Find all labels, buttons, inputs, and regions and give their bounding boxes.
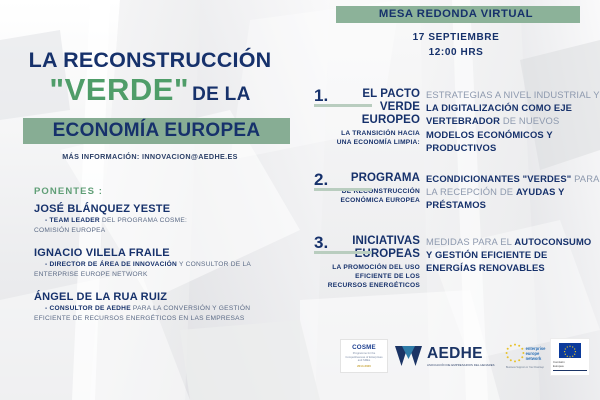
logo-strip: COSME Programme for the Competitiveness … [330, 336, 590, 382]
agenda-body-strong-1: ECONDICIONANTES "VERDES" [426, 173, 571, 184]
aedhe-logo-text: AEDHE ASOCIACIÓN DE EMPRESARIOS DEL HENA… [427, 346, 495, 367]
enterprise-europe-network-logo: enterprise europe network Business Suppo… [502, 338, 548, 374]
agenda-heading: INICIATIVAS EUROPEAS [326, 235, 420, 261]
title-line-2: "VERDE"DE LA [0, 74, 300, 112]
event-banner-text: MESA REDONDA VIRTUAL [312, 6, 600, 23]
speaker-role-rest: Y CONSULTOR DE LA [177, 261, 251, 268]
agenda-heading-block: EL PACTO VERDE EUROPEO LA TRANSICIÓN HAC… [326, 88, 426, 154]
aedhe-logo: AEDHE ASOCIACIÓN DE EMPRESARIOS DEL HENA… [395, 340, 500, 372]
poster-canvas: LA RECONSTRUCCIÓN "VERDE"DE LA ECONOMÍA … [0, 0, 600, 400]
agenda-rule-3 [314, 251, 372, 254]
agenda-rule-2 [314, 188, 372, 191]
agenda-item-1: 1. EL PACTO VERDE EUROPEO LA TRANSICIÓN … [300, 88, 600, 154]
poster-title: LA RECONSTRUCCIÓN "VERDE"DE LA [0, 48, 300, 112]
speaker-item: ÁNGEL DE LA RUA RUIZ - CONSULTOR DE AEDH… [34, 290, 289, 323]
agenda-body: ESTRATEGIAS A NIVEL INDUSTRIAL Y LA DIGI… [426, 88, 600, 154]
speaker-item: IGNACIO VILELA FRAILE - DIRECTOR DE ÁREA… [34, 246, 289, 279]
agenda-number: 1. [300, 88, 326, 154]
een-logo-line-1: enterprise [526, 346, 546, 351]
agenda-number: 2. [300, 172, 326, 212]
agenda-item-2: 2. PROGRAMA DE RECONSTRUCCIÓN ECONÓMICA … [300, 172, 600, 212]
european-commission-logo: Comisión Europea [550, 338, 590, 376]
speaker-role-rest: PARA LA CONVERSIÓN Y GESTIÓN [131, 305, 250, 312]
speaker-role: - DIRECTOR DE ÁREA DE INNOVACIÓN Y CONSU… [34, 260, 289, 279]
een-logo-caption: Business Support on Your Doorstep [503, 366, 547, 369]
speaker-role: - TEAM LEADER DEL PROGRAMA COSME: COMISI… [34, 216, 289, 235]
cosme-logo: COSME Programme for the Competitiveness … [340, 339, 388, 373]
speakers-label: PONENTES : [34, 186, 103, 197]
eu-flag-icon [559, 343, 581, 358]
speaker-role-rest: DEL PROGRAMA COSME: [100, 217, 187, 224]
event-time: 12:00 HRS [312, 45, 600, 60]
eu-logo-caption-line-2: Europea [553, 365, 587, 369]
aedhe-logo-name: AEDHE [427, 346, 495, 362]
agenda-subheading: LA TRANSICIÓN HACIA UNA ECONOMÍA LIMPIA: [326, 129, 420, 147]
agenda-body-plain-2: DE NUEVOS [500, 115, 559, 126]
agenda-heading: EL PACTO VERDE EUROPEO [326, 88, 420, 127]
more-info-text: MÁS INFORMACIÓN: INNOVACION@AEDHE.ES [0, 152, 300, 161]
agenda-body-plain-1: ESTRATEGIAS A NIVEL INDUSTRIAL Y [426, 89, 599, 100]
cosme-logo-tagline: Programme for the Competitiveness of Ent… [343, 352, 385, 362]
eu-stars-icon [505, 343, 525, 363]
title-line-3: ECONOMÍA EUROPEA [23, 118, 290, 144]
agenda-number: 3. [300, 235, 326, 291]
agenda-body-strong-2: MODELOS ECONÓMICOS Y PRODUCTIVOS [426, 129, 553, 153]
title-dela: DE LA [192, 84, 251, 105]
cosme-logo-years: 2014-2020 [357, 364, 371, 368]
speaker-role-line2: ENTERPRISE EUROPE NETWORK [34, 270, 289, 280]
agenda-rule-1 [314, 104, 372, 107]
agenda-heading: PROGRAMA [326, 172, 420, 185]
speaker-name: ÁNGEL DE LA RUA RUIZ [34, 290, 289, 304]
speaker-role: - CONSULTOR DE AEDHE PARA LA CONVERSIÓN … [34, 304, 289, 323]
event-header: MESA REDONDA VIRTUAL 17 SEPTIEMBRE 12:00… [312, 6, 600, 60]
cosme-logo-name: COSME [352, 344, 376, 351]
title-verde: "VERDE" [49, 72, 189, 107]
een-logo-text: enterprise europe network [526, 346, 546, 361]
aedhe-logo-subtitle: ASOCIACIÓN DE EMPRESARIOS DEL HENARES [427, 363, 495, 367]
event-date: 17 SEPTIEMBRE [312, 30, 600, 45]
agenda-body: MEDIDAS PARA EL AUTOCONSUMO Y GESTIÓN EF… [426, 235, 600, 291]
een-logo-line-3: network [526, 356, 546, 361]
agenda-heading-block: INICIATIVAS EUROPEAS LA PROMOCIÓN DEL US… [326, 235, 426, 291]
speakers-list: JOSÉ BLÁNQUEZ YESTE - TEAM LEADER DEL PR… [34, 202, 289, 335]
eu-logo-caption: Comisión Europea [553, 361, 587, 368]
een-logo-row: enterprise europe network [505, 343, 546, 363]
speaker-role-strong: - CONSULTOR DE AEDHE [45, 305, 131, 312]
agenda-item-3: 3. INICIATIVAS EUROPEAS LA PROMOCIÓN DEL… [300, 235, 600, 291]
speaker-role-strong: - DIRECTOR DE ÁREA DE INNOVACIÓN [45, 261, 177, 268]
title-line-1: LA RECONSTRUCCIÓN [0, 48, 300, 72]
speaker-role-strong: - TEAM LEADER [45, 217, 100, 224]
agenda-heading-block: PROGRAMA DE RECONSTRUCCIÓN ECONÓMICA EUR… [326, 172, 426, 212]
eu-logo-rule [553, 370, 587, 371]
speaker-item: JOSÉ BLÁNQUEZ YESTE - TEAM LEADER DEL PR… [34, 202, 289, 235]
speaker-role-line2: COMISIÓN EUROPEA [34, 226, 289, 236]
aedhe-triangle-icon [395, 345, 425, 367]
speaker-role-line2: EFICIENTE DE RECURSOS ENERGÉTICOS EN LAS… [34, 314, 289, 324]
left-column: LA RECONSTRUCCIÓN "VERDE"DE LA ECONOMÍA … [0, 0, 300, 400]
speaker-name: JOSÉ BLÁNQUEZ YESTE [34, 202, 289, 216]
speaker-name: IGNACIO VILELA FRAILE [34, 246, 289, 260]
agenda-body: ECONDICIONANTES "VERDES" PARA LA RECEPCI… [426, 172, 600, 212]
agenda-subheading: LA PROMOCIÓN DEL USO EFICIENTE DE LOS RE… [326, 263, 420, 291]
agenda-body-plain-1: MEDIDAS PARA EL [426, 236, 514, 247]
